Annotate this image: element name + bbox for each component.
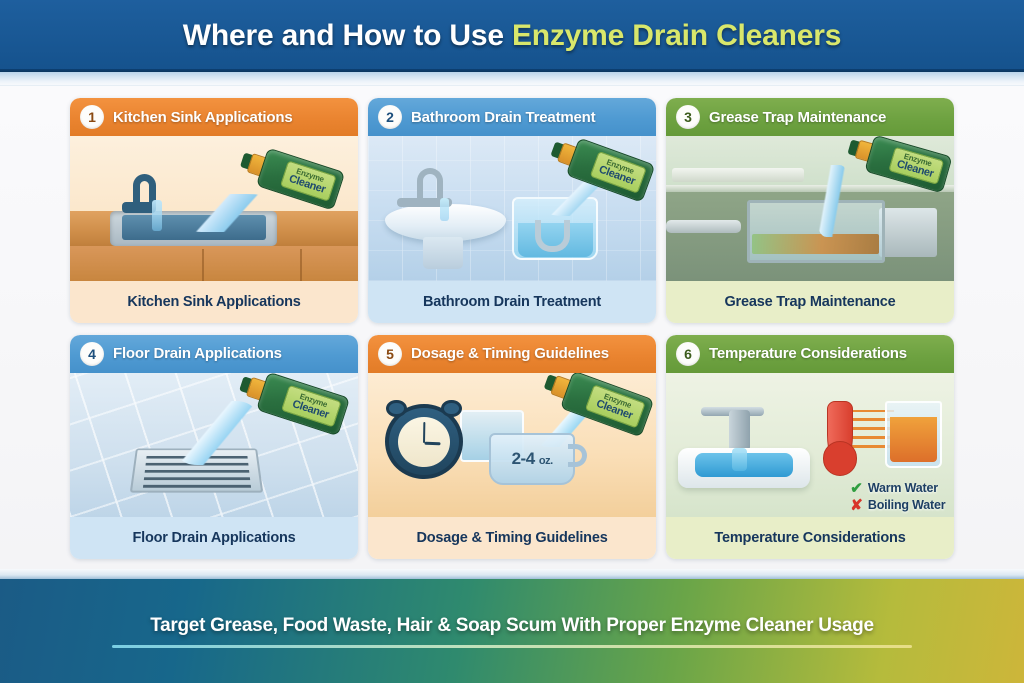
card-header: 4 Floor Drain Applications <box>70 335 358 373</box>
warm-water-glass <box>885 401 943 467</box>
page-title-main: Where and How to Use <box>183 19 512 52</box>
card-caption: Dosage & Timing Guidelines <box>368 517 656 559</box>
temperature-label: Boiling Water <box>868 498 946 512</box>
clock-hour-hand <box>424 442 440 445</box>
water-stream <box>732 448 746 471</box>
cross-icon: ✘ <box>850 498 863 513</box>
card-floor-drain-applications[interactable]: 4 Floor Drain Applications Enzyme <box>70 335 358 560</box>
card-header: 1 Kitchen Sink Applications <box>70 98 358 136</box>
page-title: Where and How to Use Enzyme Drain Cleane… <box>183 19 841 53</box>
card-temperature-considerations[interactable]: 6 Temperature Considerations <box>666 335 954 560</box>
card-caption: Grease Trap Maintenance <box>666 281 954 323</box>
cup-handle <box>568 444 586 467</box>
card-title: Floor Drain Applications <box>113 345 282 362</box>
page-footer: Target Grease, Food Waste, Hair & Soap S… <box>0 579 1024 683</box>
card-title: Kitchen Sink Applications <box>113 109 292 126</box>
card-illustration-floor-drain: Enzyme Cleaner <box>70 373 358 518</box>
water-stream <box>440 198 449 221</box>
floor-slab <box>666 185 954 192</box>
dosage-value: 2-4 <box>512 449 535 468</box>
clock-bell-right <box>441 400 462 417</box>
card-header: 6 Temperature Considerations <box>666 335 954 373</box>
cleaner-pour-stream <box>816 165 851 237</box>
p-trap-pipe <box>535 220 570 252</box>
list-item: ✘ Boiling Water <box>850 498 945 513</box>
card-title: Bathroom Drain Treatment <box>411 109 595 126</box>
step-badge: 5 <box>378 342 402 366</box>
cabinet-front <box>70 246 358 281</box>
card-illustration-dosage-timing: 2-4 oz. Enzyme Cleaner <box>368 373 656 518</box>
outlet-pipe <box>879 208 937 257</box>
card-header: 3 Grease Trap Maintenance <box>666 98 954 136</box>
temperature-guidance-list: ✔ Warm Water ✘ Boiling Water <box>850 481 945 513</box>
card-grease-trap-maintenance[interactable]: 3 Grease Trap Maintenance <box>666 98 954 323</box>
page-header: Where and How to Use Enzyme Drain Cleane… <box>0 0 1024 72</box>
card-title: Temperature Considerations <box>709 345 907 362</box>
step-badge: 4 <box>80 342 104 366</box>
water-stream <box>152 200 162 232</box>
card-caption: Temperature Considerations <box>666 517 954 559</box>
header-divider <box>0 72 1024 86</box>
check-icon: ✔ <box>850 481 863 496</box>
footer-underline <box>112 645 912 648</box>
page-title-accent: Enzyme Drain Cleaners <box>512 19 841 52</box>
card-header: 5 Dosage & Timing Guidelines <box>368 335 656 373</box>
card-caption: Kitchen Sink Applications <box>70 281 358 323</box>
cabinet-seam <box>300 249 302 281</box>
list-item: ✔ Warm Water <box>850 481 945 496</box>
step-badge: 3 <box>676 105 700 129</box>
inlet-pipe <box>666 220 741 233</box>
footer-tagline: Target Grease, Food Waste, Hair & Soap S… <box>150 615 874 637</box>
step-badge: 6 <box>676 342 700 366</box>
dosage-unit: oz. <box>539 455 553 467</box>
card-caption: Bathroom Drain Treatment <box>368 281 656 323</box>
card-caption: Floor Drain Applications <box>70 517 358 559</box>
grease-sludge-layer <box>752 234 879 254</box>
card-illustration-kitchen-sink: Enzyme Cleaner <box>70 136 358 281</box>
faucet-icon <box>729 410 749 450</box>
infographic-root: Where and How to Use Enzyme Drain Cleane… <box>0 0 1024 683</box>
commercial-counter <box>672 168 804 182</box>
card-bathroom-drain-treatment[interactable]: 2 Bathroom Drain Treatment <box>368 98 656 323</box>
card-illustration-grease-trap: Enzyme Cleaner <box>666 136 954 281</box>
cabinet-seam <box>202 249 204 281</box>
card-title: Dosage & Timing Guidelines <box>411 345 609 362</box>
card-kitchen-sink-applications[interactable]: 1 Kitchen Sink Applications <box>70 98 358 323</box>
basin-pedestal <box>423 237 463 269</box>
measuring-cup: 2-4 oz. <box>489 433 575 485</box>
card-illustration-bathroom-drain: Enzyme Cleaner <box>368 136 656 281</box>
thermometer-icon <box>827 401 853 467</box>
card-grid: 1 Kitchen Sink Applications <box>0 86 1024 569</box>
card-header: 2 Bathroom Drain Treatment <box>368 98 656 136</box>
card-dosage-timing-guidelines[interactable]: 5 Dosage & Timing Guidelines <box>368 335 656 560</box>
card-illustration-temperature: ✔ Warm Water ✘ Boiling Water <box>666 373 954 518</box>
clock-bell-left <box>386 400 407 417</box>
footer-divider <box>0 569 1024 579</box>
dosage-amount: 2-4 oz. <box>512 449 553 469</box>
card-title: Grease Trap Maintenance <box>709 109 886 126</box>
step-badge: 1 <box>80 105 104 129</box>
temperature-label: Warm Water <box>868 481 938 495</box>
thermometer-bulb <box>823 441 857 475</box>
step-badge: 2 <box>378 105 402 129</box>
alarm-clock-icon <box>385 404 463 479</box>
glass-liquid <box>890 417 937 462</box>
